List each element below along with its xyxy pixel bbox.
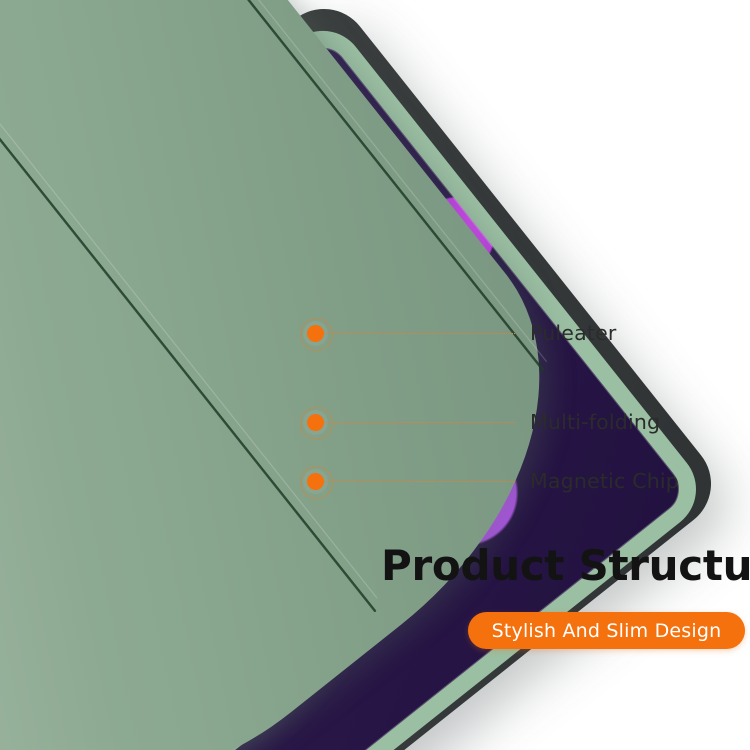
callout-line-2 xyxy=(324,422,515,423)
callout-label-puleater: Puleater xyxy=(530,321,617,345)
product-marketing-image: Puleater Multi-folding Magnetic Chip Pro… xyxy=(0,0,750,750)
callout-label-magnetic-chip: Magnetic Chip xyxy=(530,469,679,493)
callout-line-1 xyxy=(324,333,515,334)
page-title: Product Structure xyxy=(381,541,750,590)
callout-dot-puleater[interactable] xyxy=(307,325,324,342)
tagline-badge: Stylish And Slim Design xyxy=(468,612,745,649)
tagline-badge-label: Stylish And Slim Design xyxy=(492,620,722,642)
callout-dot-multi-folding[interactable] xyxy=(307,414,324,431)
callout-label-multi-folding: Multi-folding xyxy=(530,410,660,434)
callout-line-3 xyxy=(324,481,515,482)
callout-dot-magnetic-chip[interactable] xyxy=(307,473,324,490)
